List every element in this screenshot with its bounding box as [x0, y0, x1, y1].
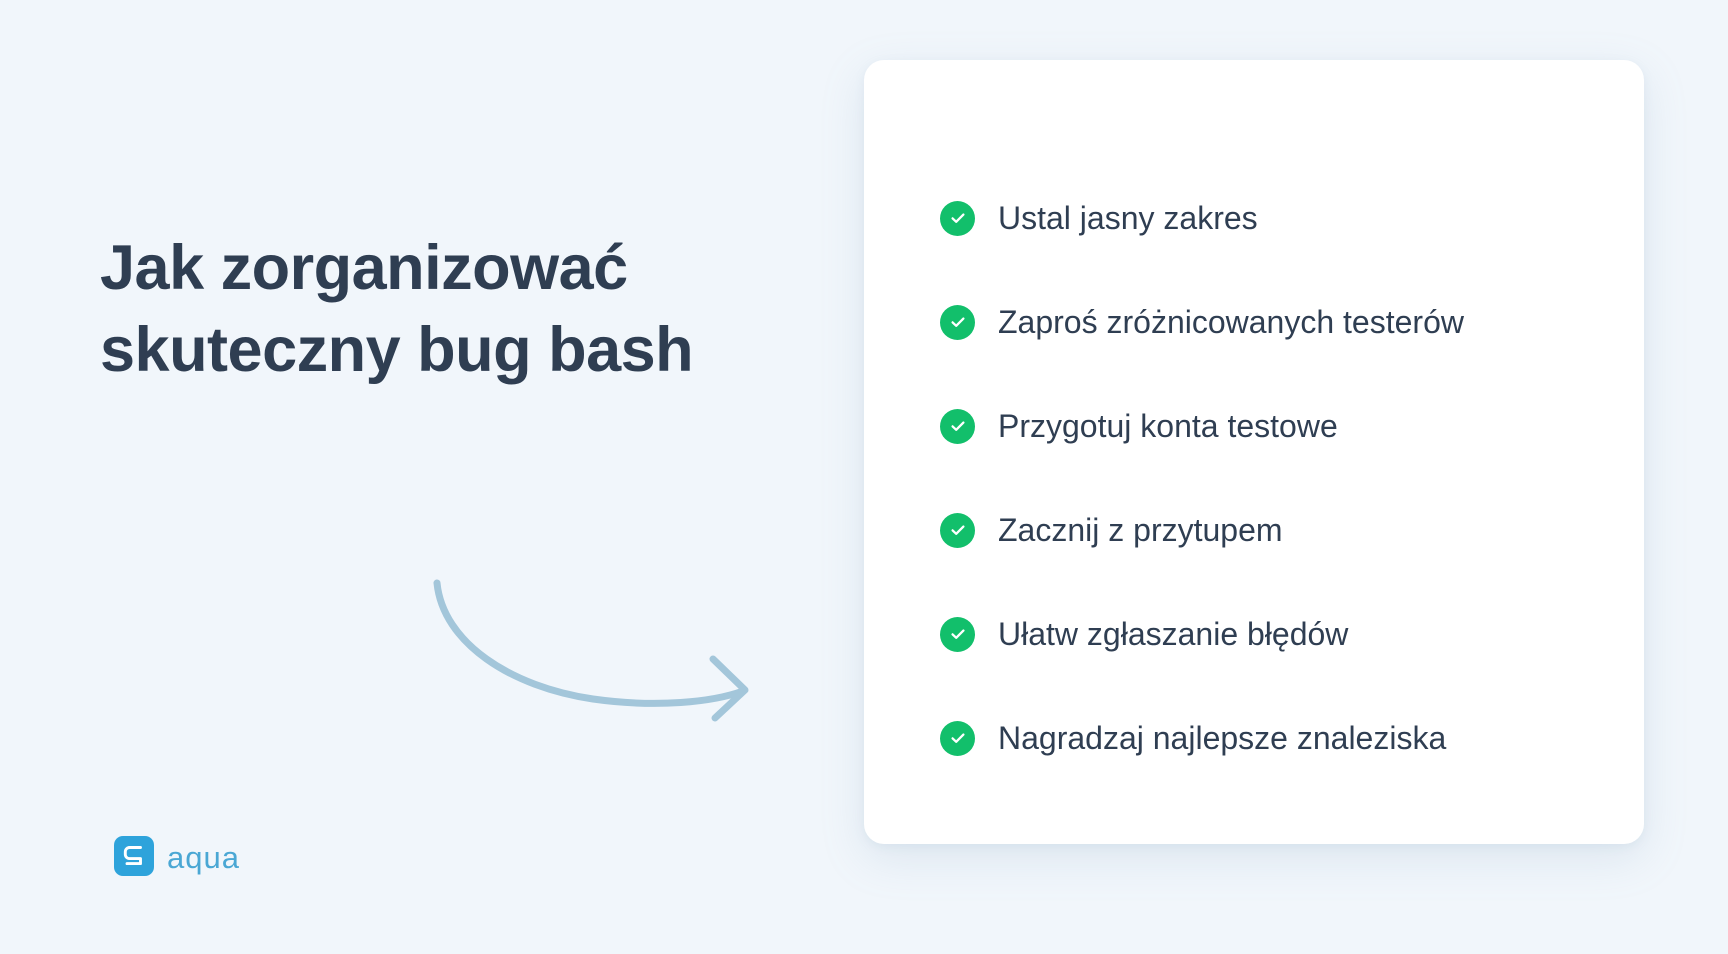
aqua-logo-mark-icon: [114, 836, 154, 876]
curved-arrow-icon: [425, 565, 775, 725]
list-item-label: Ułatw zgłaszanie błędów: [998, 615, 1348, 653]
list-item: Przygotuj konta testowe: [940, 374, 1608, 478]
check-circle-icon: [940, 305, 975, 340]
check-circle-icon: [940, 201, 975, 236]
check-circle-icon: [940, 513, 975, 548]
aqua-logo-wordmark: aqua: [167, 842, 240, 873]
list-item: Ustal jasny zakres: [940, 166, 1608, 270]
list-item-label: Przygotuj konta testowe: [998, 407, 1338, 445]
check-circle-icon: [940, 617, 975, 652]
list-item: Ułatw zgłaszanie błędów: [940, 582, 1608, 686]
aqua-logo[interactable]: aqua: [114, 836, 240, 876]
list-item-label: Nagradzaj najlepsze znaleziska: [998, 719, 1446, 757]
list-item-label: Ustal jasny zakres: [998, 199, 1258, 237]
list-item: Zaproś zróżnicowanych testerów: [940, 270, 1608, 374]
page-title: Jak zorganizować skuteczny bug bash: [100, 228, 800, 392]
checklist: Ustal jasny zakres Zaproś zróżnicowanych…: [940, 166, 1608, 790]
list-item: Zacznij z przytupem: [940, 478, 1608, 582]
checklist-card: Ustal jasny zakres Zaproś zróżnicowanych…: [864, 60, 1644, 844]
check-circle-icon: [940, 721, 975, 756]
list-item-label: Zaproś zróżnicowanych testerów: [998, 303, 1464, 341]
list-item: Nagradzaj najlepsze znaleziska: [940, 686, 1608, 790]
slide-canvas: Jak zorganizować skuteczny bug bash aqua…: [0, 0, 1728, 954]
list-item-label: Zacznij z przytupem: [998, 511, 1283, 549]
check-circle-icon: [940, 409, 975, 444]
